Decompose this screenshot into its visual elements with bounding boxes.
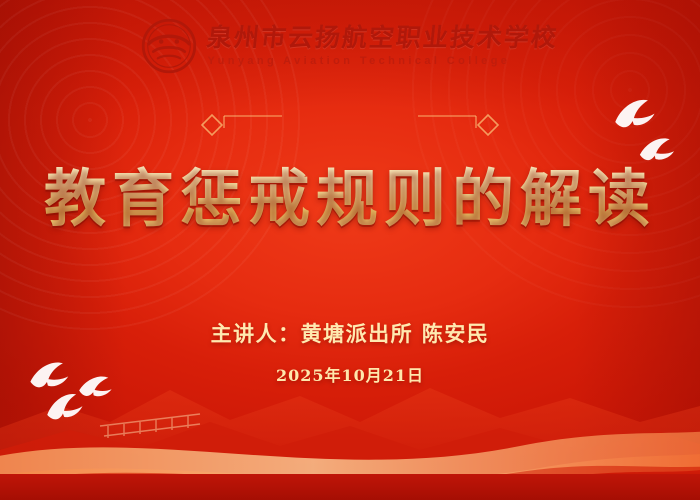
- presenter-line: 主讲人：黄塘派出所 陈安民: [0, 318, 700, 348]
- footer-band: [0, 474, 700, 500]
- dove-icon: [611, 97, 656, 132]
- presentation-slide: 泉州市云扬航空职业技术学校 Yunyang Aviation Technical…: [0, 0, 700, 500]
- school-name-group: 泉州市云扬航空职业技术学校 Yunyang Aviation Technical…: [207, 25, 558, 67]
- school-emblem-icon: [141, 18, 197, 74]
- corner-bracket-left-icon: [200, 108, 284, 142]
- dove-icon: [43, 391, 84, 424]
- background-vignette: [0, 0, 700, 500]
- slide-title: 教育惩戒规则的解读: [0, 148, 700, 238]
- school-logo-block: 泉州市云扬航空职业技术学校 Yunyang Aviation Technical…: [0, 18, 700, 74]
- corner-bracket-right-icon: [416, 108, 500, 142]
- dove-group: [0, 0, 700, 500]
- school-name-en: Yunyang Aviation Technical College: [207, 56, 510, 67]
- date-line: 2025年10月21日: [0, 362, 700, 386]
- school-name-cn: 泉州市云扬航空职业技术学校: [206, 25, 560, 50]
